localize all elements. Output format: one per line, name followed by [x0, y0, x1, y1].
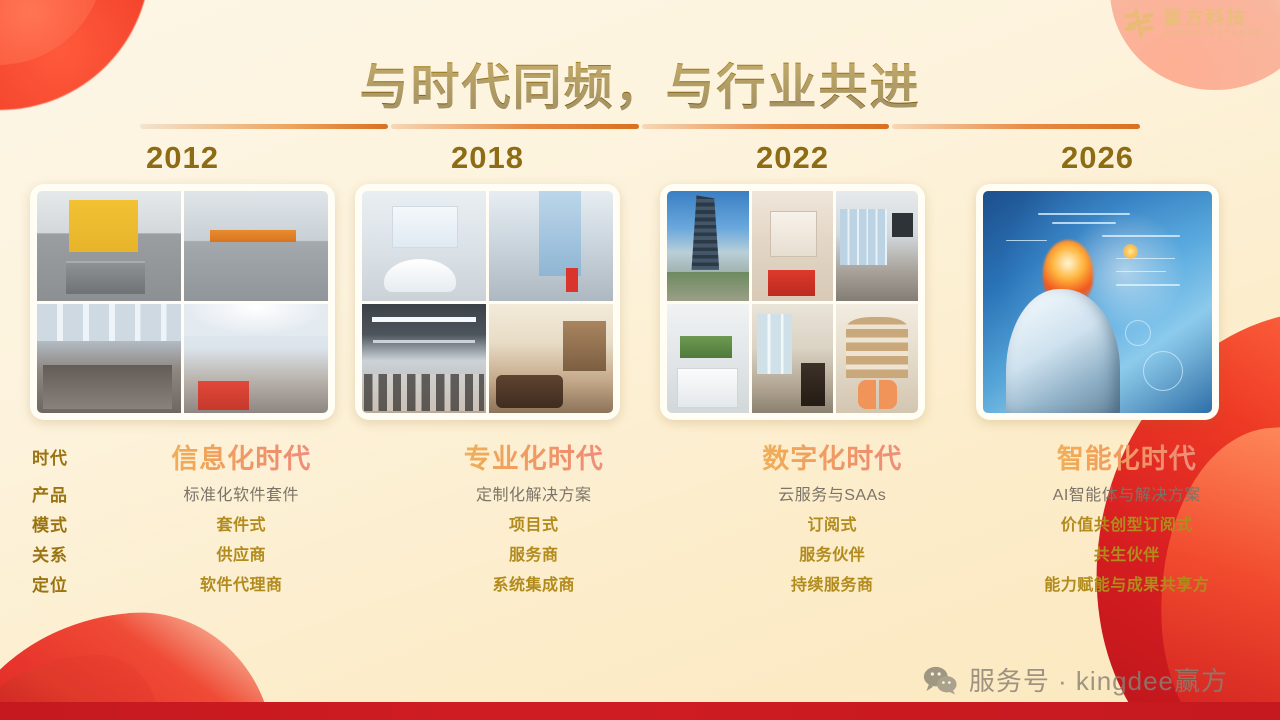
footer-text: 服务号 · kingdee赢方	[969, 661, 1228, 698]
table-cell: 信息化时代	[92, 437, 391, 476]
photo-skyscraper-tower	[667, 191, 749, 301]
timeline-year: 2012	[146, 140, 219, 176]
table-cell: 数字化时代	[683, 437, 982, 476]
photo-collage	[667, 191, 918, 413]
photo-dark-ceiling-coworking	[362, 304, 486, 414]
table-cell: 智能化时代	[978, 437, 1277, 476]
title-divider	[140, 124, 1140, 129]
slide-canvas: 赢方科技 全球领先的企业数字化服务商 与时代同频，与行业共进 2012 20	[0, 0, 1280, 720]
photo-kingdee-reception	[362, 191, 486, 301]
divider-segment	[642, 124, 890, 129]
photo-collage	[362, 191, 613, 413]
table-cell: 服务商	[385, 541, 684, 565]
table-cell: 订阅式	[683, 511, 982, 535]
photo-open-office-desks	[37, 304, 181, 414]
footer-watermark: 服务号 · kingdee赢方	[923, 661, 1228, 698]
table-cell: 持续服务商	[683, 571, 982, 595]
photo-ai-robot-hand-interface	[983, 191, 1212, 413]
row-label: 关系	[0, 541, 86, 566]
photo-collage	[37, 191, 328, 413]
photo-card-2022	[660, 184, 925, 420]
timeline-column-2018: 2018	[335, 140, 640, 420]
timeline-column-2026: 2026	[945, 140, 1250, 420]
row-label: 产品	[0, 481, 86, 506]
table-cell: 价值共创型订阅式	[978, 511, 1277, 535]
photo-cafe-plants	[752, 304, 834, 414]
table-cell: 标准化软件套件	[92, 481, 391, 505]
timeline-column-2022: 2022	[640, 140, 945, 420]
timeline-columns: 2012 2018 2022	[30, 140, 1250, 420]
photo-glass-corridor	[489, 191, 613, 301]
table-row-era: 时代 信息化时代 专业化时代 数字化时代 智能化时代	[0, 434, 1280, 478]
photo-red-carpet-reception	[752, 191, 834, 301]
brand-logo: 赢方科技 全球领先的企业数字化服务商	[1122, 6, 1262, 40]
photo-modern-window-office	[836, 191, 918, 301]
table-cell: 专业化时代	[385, 437, 684, 476]
comparison-table: 时代 信息化时代 专业化时代 数字化时代 智能化时代 产品 标准化软件套件 定制…	[0, 434, 1280, 598]
photo-card-2012	[30, 184, 335, 420]
photo-card-2018	[355, 184, 620, 420]
table-cell: 能力赋能与成果共享方	[978, 571, 1277, 595]
row-label: 定位	[0, 571, 86, 596]
hud-overlay-decoration	[983, 191, 1212, 413]
photo-card-2026	[976, 184, 1219, 420]
divider-segment	[391, 124, 639, 129]
row-label: 模式	[0, 511, 86, 536]
table-row-mode: 模式 套件式 项目式 订阅式 价值共创型订阅式	[0, 508, 1280, 538]
winfang-logo-icon	[1122, 6, 1156, 40]
wechat-icon	[923, 665, 957, 695]
page-title: 与时代同频，与行业共进	[0, 48, 1280, 119]
photo-warm-lounge	[489, 304, 613, 414]
table-cell: 软件代理商	[92, 571, 391, 595]
table-cell: AI智能体与解决方案	[978, 481, 1277, 505]
table-cell: 定制化解决方案	[385, 481, 684, 505]
table-cell: 套件式	[92, 511, 391, 535]
brand-name: 赢方科技	[1163, 9, 1262, 28]
row-cells: 软件代理商 系统集成商 持续服务商 能力赋能与成果共享方	[86, 571, 1280, 595]
table-cell: 系统集成商	[385, 571, 684, 595]
row-label: 时代	[0, 444, 86, 469]
table-row-product: 产品 标准化软件套件 定制化解决方案 云服务与SAAs AI智能体与解决方案	[0, 478, 1280, 508]
photo-bright-open-office	[184, 304, 328, 414]
row-cells: 套件式 项目式 订阅式 价值共创型订阅式	[86, 511, 1280, 535]
photo-collage	[983, 191, 1212, 413]
table-cell: 共生伙伴	[978, 541, 1277, 565]
row-cells: 标准化软件套件 定制化解决方案 云服务与SAAs AI智能体与解决方案	[86, 481, 1280, 505]
table-cell: 项目式	[385, 511, 684, 535]
table-cell: 云服务与SAAs	[683, 481, 982, 505]
bottom-red-band	[0, 702, 1280, 720]
table-row-positioning: 定位 软件代理商 系统集成商 持续服务商 能力赋能与成果共享方	[0, 568, 1280, 598]
brand-tagline: 全球领先的企业数字化服务商	[1163, 31, 1262, 38]
photo-library-chairs	[836, 304, 918, 414]
photo-office-yellow-wall	[37, 191, 181, 301]
timeline-year: 2026	[1061, 140, 1134, 176]
photo-hallway-orange-sign	[184, 191, 328, 301]
photo-flower-counter	[667, 304, 749, 414]
timeline-year: 2018	[451, 140, 524, 176]
table-cell: 供应商	[92, 541, 391, 565]
table-row-relationship: 关系 供应商 服务商 服务伙伴 共生伙伴	[0, 538, 1280, 568]
row-cells: 信息化时代 专业化时代 数字化时代 智能化时代	[86, 437, 1280, 476]
timeline-year: 2022	[756, 140, 829, 176]
divider-segment	[140, 124, 388, 129]
row-cells: 供应商 服务商 服务伙伴 共生伙伴	[86, 541, 1280, 565]
table-cell: 服务伙伴	[683, 541, 982, 565]
divider-segment	[892, 124, 1140, 129]
timeline-column-2012: 2012	[30, 140, 335, 420]
